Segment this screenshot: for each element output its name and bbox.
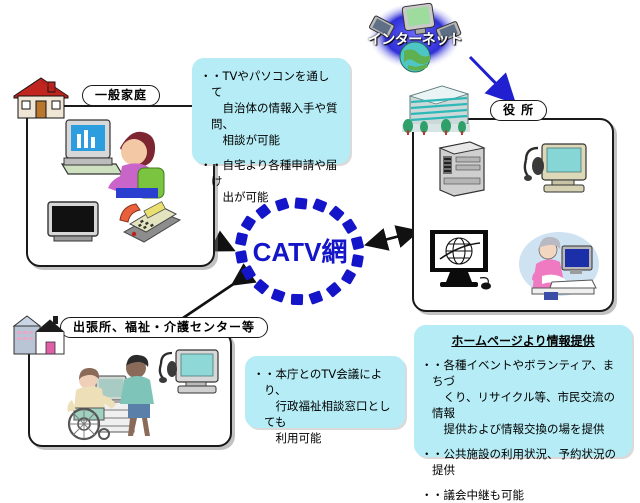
internet-label: インターネット <box>360 29 470 49</box>
catv-network-label: CATV網 <box>225 232 375 269</box>
branch-building-icon <box>10 312 68 358</box>
branch-callout: ・本庁とのTV会議により、 行政福祉相談窓口としても 利用可能 <box>245 356 405 428</box>
tv-icon <box>46 200 102 244</box>
arrow-internet-to-cityhall <box>470 57 512 100</box>
arrow-catv-to-cityhall <box>369 232 415 244</box>
homepage-icon <box>428 228 494 290</box>
catv-network-node: CATV網 <box>225 198 375 306</box>
homepage-services-line-3: ・議会中継も可能 <box>423 487 623 503</box>
branch-callout-line-1: ・本庁とのTV会議により、 行政福祉相談窓口としても 利用可能 <box>255 366 395 446</box>
home-callout-line-1: ・TVやパソコンを通して 自治体の情報入手や質問、 相談が可能 <box>202 68 340 148</box>
city-hall-building-icon <box>398 84 472 136</box>
internet-node: インターネット <box>360 3 470 75</box>
staff-at-desk-icon <box>518 230 600 300</box>
homepage-services-title: ホームページより情報提供 <box>423 333 623 349</box>
home-label: 一般家庭 <box>82 85 160 106</box>
home-callout: ・TVやパソコンを通して 自治体の情報入手や質問、 相談が可能 ・自宅より各種申… <box>192 58 350 164</box>
tv-conference-icon <box>522 142 592 200</box>
voip-phone-icon <box>114 198 184 246</box>
branch-label: 出張所、福祉・介護センター等 <box>60 317 268 338</box>
disclosure-server-icon <box>434 140 490 198</box>
cityhall-label: 役 所 <box>490 100 547 121</box>
branch-tv-conference-icon <box>156 348 222 400</box>
diagram-canvas: 一般家庭 TV <box>0 0 640 463</box>
consultation-scene-icon <box>52 350 172 440</box>
house-icon <box>10 74 72 122</box>
homepage-services-line-2: ・公共施設の利用状況、予約状況の提供 <box>423 446 623 478</box>
homepage-services-callout: ホームページより情報提供 ・各種イベントやボランティア、まちづ くり、リサイクル… <box>414 325 632 457</box>
homepage-services-line-1: ・各種イベントやボランティア、まちづ くり、リサイクル等、市民交流の情報 提供お… <box>423 357 623 437</box>
person-at-computer-icon <box>60 112 178 198</box>
